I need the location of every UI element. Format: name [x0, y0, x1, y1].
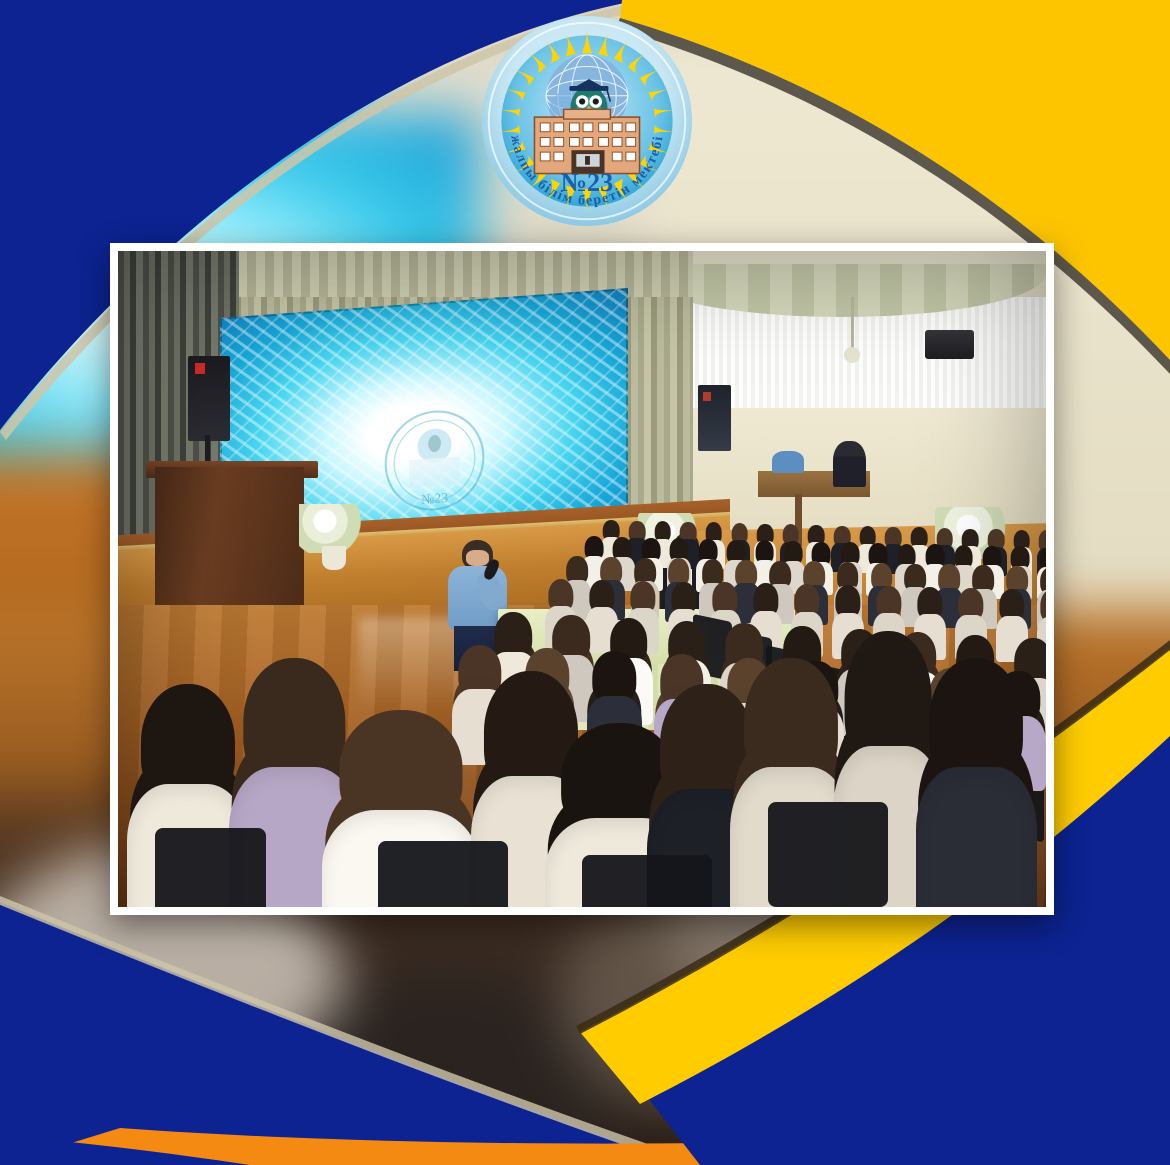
assembly-hall-photo: №23 — [118, 251, 1046, 907]
school-emblem: №23 жалпы білім беретін мектебі — [480, 14, 694, 228]
folding-chair-foreground — [155, 828, 266, 907]
folding-chair-foreground — [768, 802, 889, 907]
audience-member-front-row — [916, 658, 1037, 907]
photo-card: №23 — [110, 243, 1054, 915]
poster-canvas: №23 жалпы білім беретін мектебі — [0, 0, 1170, 1165]
school-building-icon — [534, 109, 639, 173]
audience-area — [118, 251, 1046, 907]
folding-chair-foreground — [378, 841, 508, 907]
folding-chair-foreground — [582, 855, 712, 907]
